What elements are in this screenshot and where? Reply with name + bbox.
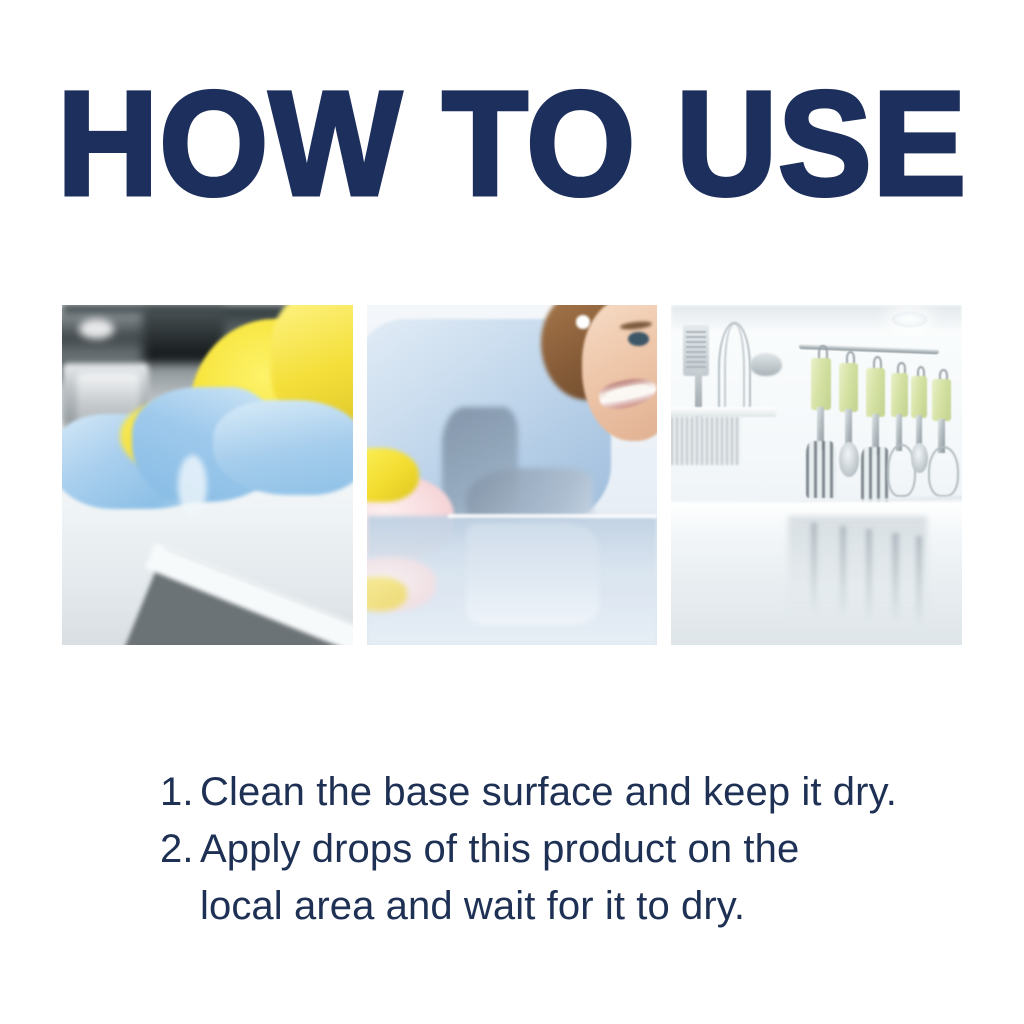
photo-smiling-woman [367, 305, 658, 645]
page-title-text: HOW TO USE [57, 70, 967, 218]
utensil-reflection [892, 533, 898, 621]
reflection-seam [448, 514, 657, 518]
turner-head [861, 447, 889, 501]
step-number: 1. [160, 764, 200, 821]
whisk-head [928, 446, 959, 496]
hanging-utensil-whisk [927, 375, 956, 491]
ladle-shelf [750, 353, 782, 377]
green-handle [911, 376, 927, 418]
utensil-reflection [840, 526, 846, 614]
instruction-step-1: 1. Clean the base surface and keep it dr… [160, 764, 940, 821]
hanging-utensil-slotted-turner [805, 353, 837, 496]
photo-wiping-counter [62, 305, 353, 645]
spoon-bowl [911, 443, 928, 473]
step-text: Clean the base surface and keep it dry. [200, 764, 940, 821]
hanging-utensil-ladle [834, 358, 863, 494]
wall-shelf [671, 407, 776, 417]
cloth-fold-highlight [178, 455, 207, 516]
page-title: HOW TO USE [0, 70, 1024, 202]
step-text-line-2: local area and wait for it to dry. [200, 884, 745, 928]
turner-head [806, 441, 835, 498]
instruction-list: 1. Clean the base surface and keep it dr… [160, 764, 940, 935]
instruction-step-2: 2. Apply drops of this product on the lo… [160, 821, 940, 935]
green-handle [866, 368, 886, 417]
green-handle [839, 363, 858, 412]
step-text-line-1: Apply drops of this product on the [200, 827, 799, 871]
utensil-reflection [866, 529, 872, 617]
step-text: Apply drops of this product on the local… [200, 821, 940, 935]
green-handle [932, 379, 951, 421]
photo-strip [62, 305, 962, 645]
photo-utensils-rail [671, 305, 962, 645]
green-handle [811, 358, 831, 409]
pot-highlight [79, 319, 114, 339]
whisk-shelf-inner [724, 322, 745, 414]
green-handle [891, 373, 908, 417]
ceiling-light [892, 312, 927, 327]
shirt-reflection [466, 523, 600, 625]
eye [628, 332, 648, 346]
ladle-bowl [839, 442, 859, 477]
utensil-reflection [916, 536, 922, 624]
utensil-reflection-field [788, 516, 928, 618]
utensil-reflection [811, 523, 817, 611]
step-number: 2. [160, 821, 200, 878]
utensil-holder [671, 417, 741, 465]
how-to-use-poster: HOW TO USE [0, 0, 1024, 1024]
spatula-slots [686, 331, 706, 372]
